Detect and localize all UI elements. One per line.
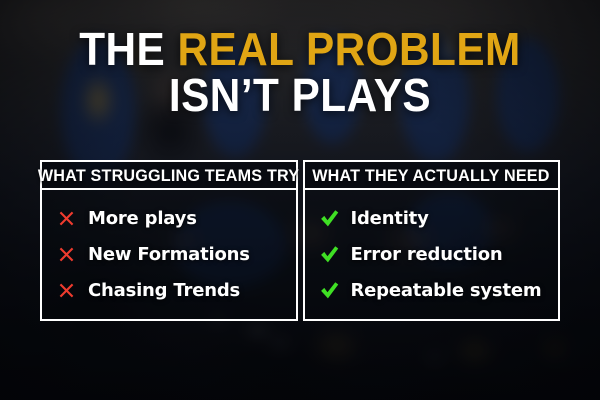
list-item: Repeatable system <box>319 279 559 303</box>
comparison-panels: WHAT STRUGGLING TEAMS TRY More plays New… <box>40 160 560 321</box>
list-item-label: Identity <box>351 209 429 229</box>
headline-real-problem: REAL PROBLEM <box>177 23 520 75</box>
list-item-label: Chasing Trends <box>88 281 240 301</box>
check-icon <box>319 244 340 265</box>
list-item-label: Error reduction <box>351 245 503 265</box>
list-item-label: More plays <box>88 209 197 229</box>
check-icon <box>319 208 340 229</box>
panel-actually-need: WHAT THEY ACTUALLY NEED Identity Error r… <box>303 160 561 321</box>
headline-line-1: THE REAL PROBLEM <box>24 26 576 72</box>
headline-line-2: ISN’T PLAYS <box>24 72 576 118</box>
list-item-label: Repeatable system <box>351 281 542 301</box>
panel-need-header: WHAT THEY ACTUALLY NEED <box>305 162 559 190</box>
list-item: Identity <box>319 207 559 231</box>
list-item: New Formations <box>56 243 296 267</box>
cross-icon <box>56 280 77 301</box>
headline-the: THE <box>79 23 177 75</box>
panel-need-list: Identity Error reduction Repeatable syst… <box>305 190 559 319</box>
panel-struggling-teams: WHAT STRUGGLING TEAMS TRY More plays New… <box>40 160 298 321</box>
headline: THE REAL PROBLEM ISN’T PLAYS <box>24 26 576 118</box>
check-icon <box>319 280 340 301</box>
cross-icon <box>56 244 77 265</box>
panel-struggling-header-text: WHAT STRUGGLING TEAMS TRY <box>38 167 299 184</box>
cross-icon <box>56 208 77 229</box>
list-item: Chasing Trends <box>56 279 296 303</box>
list-item: Error reduction <box>319 243 559 267</box>
list-item-label: New Formations <box>88 245 250 265</box>
promo-graphic: THE REAL PROBLEM ISN’T PLAYS WHAT STRUGG… <box>0 0 600 400</box>
panel-need-header-text: WHAT THEY ACTUALLY NEED <box>313 167 550 184</box>
panel-struggling-header: WHAT STRUGGLING TEAMS TRY <box>42 162 296 190</box>
list-item: More plays <box>56 207 296 231</box>
panel-struggling-list: More plays New Formations Chasing Trends <box>42 190 296 319</box>
